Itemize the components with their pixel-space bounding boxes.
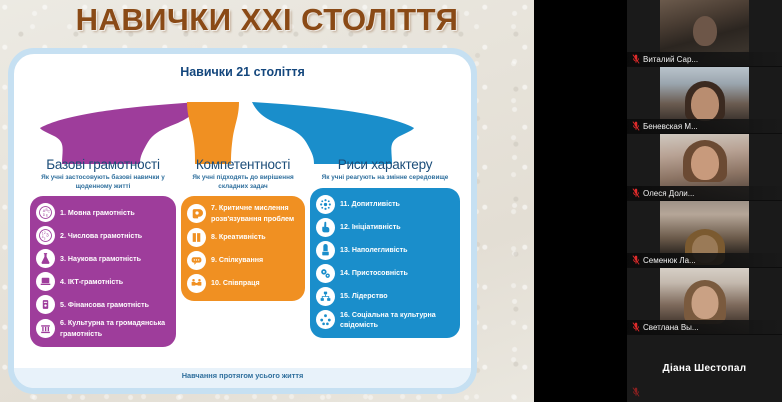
list-item[interactable]: 11. Допитливість bbox=[316, 195, 454, 214]
list-item-label: 11. Допитливість bbox=[340, 199, 400, 209]
list-item[interactable]: 6. Культурна та громадянська грамотність bbox=[36, 318, 170, 339]
numbers-123-icon: 12345 bbox=[36, 226, 55, 245]
column-title: Базові грамотності bbox=[30, 157, 176, 172]
list-item-label: 14. Пристосовність bbox=[340, 268, 408, 278]
participant-namebar: Светлана Вы... bbox=[627, 320, 782, 334]
head-gear-icon bbox=[187, 204, 206, 223]
hand-tap-icon bbox=[316, 218, 335, 237]
microphone-muted-icon bbox=[632, 255, 640, 265]
list-item[interactable]: 9. Спілкування bbox=[187, 251, 299, 270]
participant-tile[interactable]: Беневская М... bbox=[627, 67, 782, 134]
meeting-screen: НАВИЧКИ XXI СТОЛІТТЯ Навички 21 століття bbox=[0, 0, 782, 402]
svg-text:E: E bbox=[46, 214, 49, 218]
microphone-muted-icon bbox=[632, 188, 640, 198]
list-item[interactable]: 4. ІКТ-грамотність bbox=[36, 272, 170, 291]
speech-bubble-icon bbox=[187, 251, 206, 270]
column-items-box: 11. Допитливість 12. Ініціативність bbox=[310, 188, 460, 339]
flask-icon bbox=[36, 249, 55, 268]
column-subtitle: Як учні підходять до вирішення складних … bbox=[181, 174, 305, 191]
svg-text:3: 3 bbox=[46, 233, 49, 239]
participant-tile[interactable]: Семенюк Ла... bbox=[627, 201, 782, 268]
avatar bbox=[693, 16, 717, 46]
funnel-shape-blue bbox=[252, 102, 414, 164]
money-icon bbox=[36, 295, 55, 314]
list-item-label: 8. Креативність bbox=[211, 232, 266, 242]
participant-tile[interactable]: Олеся Доли... bbox=[627, 134, 782, 201]
handshake-icon bbox=[187, 274, 206, 293]
letters-abc-icon: ABCDE bbox=[36, 203, 55, 222]
avatar bbox=[691, 146, 719, 180]
footer-text: Навчання протягом усього життя bbox=[14, 368, 471, 384]
infographic-title: Навички 21 століття bbox=[14, 65, 471, 79]
microphone-muted-icon bbox=[632, 54, 640, 64]
column-items-box: 7. Критичне мислення розв'язування пробл… bbox=[181, 196, 305, 301]
column-subtitle: Як учні реагують на змінне середовище bbox=[310, 174, 460, 183]
column-foundational-literacies: Базові грамотності Як учні застосовують … bbox=[30, 157, 176, 347]
column-character-qualities: Риси характеру Як учні реагують на змінн… bbox=[310, 157, 460, 338]
fist-icon bbox=[316, 241, 335, 260]
participant-name: Семенюк Ла... bbox=[643, 256, 696, 265]
participant-name: Діана Шестопал bbox=[663, 363, 747, 374]
atom-icon bbox=[316, 195, 335, 214]
participant-filmstrip[interactable]: Виталий Сар... Беневская М... bbox=[627, 0, 782, 402]
list-item[interactable]: 3. Наукова грамотність bbox=[36, 249, 170, 268]
avatar bbox=[691, 286, 718, 319]
slide-heading: НАВИЧКИ XXI СТОЛІТТЯ bbox=[0, 2, 534, 38]
list-item[interactable]: 10. Співпраця bbox=[187, 274, 299, 293]
list-item-label: 5. Фінансова грамотність bbox=[60, 300, 149, 310]
people-network-icon bbox=[316, 310, 335, 329]
building-icon bbox=[36, 319, 55, 338]
shared-screen-area[interactable]: НАВИЧКИ XXI СТОЛІТТЯ Навички 21 століття bbox=[0, 0, 627, 402]
microphone-muted-icon bbox=[632, 121, 640, 131]
list-item[interactable]: 5. Фінансова грамотність bbox=[36, 295, 170, 314]
list-item-label: 12. Ініціативність bbox=[340, 222, 401, 232]
participant-name: Светлана Вы... bbox=[643, 323, 699, 332]
laptop-icon bbox=[36, 272, 55, 291]
list-item[interactable]: 16. Соціальна та культурна свідомість bbox=[316, 310, 454, 331]
hierarchy-icon bbox=[316, 287, 335, 306]
list-item[interactable]: 12345 2. Числова грамотність bbox=[36, 226, 170, 245]
list-item[interactable]: 7. Критичне мислення розв'язування пробл… bbox=[187, 203, 299, 224]
participant-namebar: Виталий Сар... bbox=[627, 52, 782, 66]
participant-name: Олеся Доли... bbox=[643, 189, 694, 198]
list-item[interactable]: 15. Лідерство bbox=[316, 287, 454, 306]
infographic-card: Навички 21 століття bbox=[8, 48, 477, 394]
list-item-label: 9. Спілкування bbox=[211, 255, 263, 265]
svg-text:D: D bbox=[43, 213, 46, 217]
list-item-label: 15. Лідерство bbox=[340, 291, 388, 301]
list-item[interactable]: 12. Ініціативність bbox=[316, 218, 454, 237]
list-item[interactable]: 13. Наполегливість bbox=[316, 241, 454, 260]
list-item-label: 3. Наукова грамотність bbox=[60, 254, 141, 264]
participant-tile[interactable]: Светлана Вы... bbox=[627, 268, 782, 335]
list-item-label: 13. Наполегливість bbox=[340, 245, 407, 255]
avatar bbox=[691, 87, 719, 121]
list-item-label: 4. ІКТ-грамотність bbox=[60, 277, 123, 287]
column-subtitle: Як учні застосовують базові навички у що… bbox=[30, 174, 176, 191]
list-item[interactable]: ABCDE 1. Мовна грамотність bbox=[36, 203, 170, 222]
list-item[interactable]: 14. Пристосовність bbox=[316, 264, 454, 283]
funnel-shape-orange bbox=[173, 102, 253, 164]
list-item-label: 7. Критичне мислення розв'язування пробл… bbox=[211, 203, 299, 224]
participant-namebar: Беневская М... bbox=[627, 119, 782, 133]
microphone-muted-icon bbox=[632, 322, 640, 332]
participant-tile[interactable]: Виталий Сар... bbox=[627, 0, 782, 67]
column-title: Компетентності bbox=[181, 157, 305, 172]
list-item-label: 1. Мовна грамотність bbox=[60, 208, 135, 218]
participant-name: Беневская М... bbox=[643, 122, 698, 131]
lightbulb-book-icon bbox=[187, 228, 206, 247]
column-competencies: Компетентності Як учні підходять до вирі… bbox=[181, 157, 305, 301]
participant-namebar: Семенюк Ла... bbox=[627, 253, 782, 267]
participant-tile[interactable]: Діана Шестопал bbox=[627, 335, 782, 402]
gears-icon bbox=[316, 264, 335, 283]
participant-namebar: Олеся Доли... bbox=[627, 186, 782, 200]
column-title: Риси характеру bbox=[310, 157, 460, 172]
participant-name: Виталий Сар... bbox=[643, 55, 698, 64]
list-item[interactable]: 8. Креативність bbox=[187, 228, 299, 247]
list-item-label: 16. Соціальна та культурна свідомість bbox=[340, 310, 454, 331]
list-item-label: 6. Культурна та громадянська грамотність bbox=[60, 318, 170, 339]
microphone-muted-icon bbox=[632, 387, 640, 397]
list-item-label: 10. Співпраця bbox=[211, 278, 260, 288]
column-items-box: ABCDE 1. Мовна грамотність 12345 2. Числ… bbox=[30, 196, 176, 347]
list-item-label: 2. Числова грамотність bbox=[60, 231, 142, 241]
presentation-slide: НАВИЧКИ XXI СТОЛІТТЯ Навички 21 століття bbox=[0, 0, 534, 402]
